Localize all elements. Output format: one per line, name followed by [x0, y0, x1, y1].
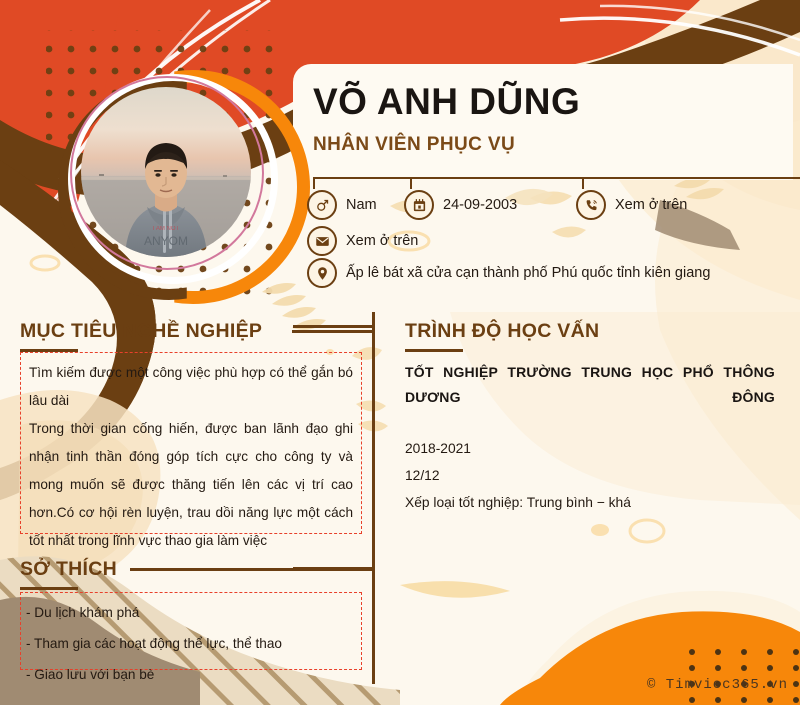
svg-text:ANYOM: ANYOM	[144, 234, 188, 248]
education-underline	[405, 349, 463, 352]
contact-gender[interactable]: Nam	[307, 190, 377, 220]
objective-paragraph-1: Tìm kiếm được một công việc phù hợp có t…	[29, 359, 353, 415]
contact-phone[interactable]: Xem ở trên	[576, 190, 687, 220]
education-title: TRÌNH ĐỘ HỌC VẤN	[405, 320, 599, 343]
education-grade-level: 12/12	[405, 462, 775, 489]
list-item: - Tham gia các hoạt động thể lực, thể th…	[26, 628, 353, 659]
profile-photo: I AM NOT ANYOM	[81, 87, 251, 257]
hobbies-underline	[20, 587, 78, 590]
hobbies-title: SỞ THÍCH	[20, 558, 117, 581]
education-classification: Xếp loại tốt nghiệp: Trung bình − khá	[405, 489, 775, 516]
contact-address[interactable]: Ấp lê bát xã cửa cạn thành phố Phú quốc …	[307, 258, 710, 288]
list-item: - Du lịch khám phá	[26, 597, 353, 628]
gender-icon	[307, 190, 337, 220]
hobbies-box: - Du lịch khám phá - Tham gia các hoạt đ…	[20, 592, 362, 670]
objective-paragraph-2: Trong thời gian cống hiến, được ban lãnh…	[29, 415, 353, 555]
objective-title: MỤC TIÊU NGHỀ NGHIỆP	[20, 320, 262, 343]
education-body: TỐT NGHIỆP TRƯỜNG TRUNG HỌC PHỔ THÔNG DƯ…	[405, 360, 775, 516]
contact-rail	[313, 177, 800, 179]
column-divider	[372, 312, 375, 684]
rail-tick-gender	[313, 177, 315, 189]
hobbies-header: SỞ THÍCH	[20, 558, 117, 590]
education-header: TRÌNH ĐỘ HỌC VẤN	[405, 320, 599, 352]
rail-tick-phone	[582, 177, 584, 189]
page-title: VÕ ANH DŨNG	[313, 80, 580, 124]
education-school: TỐT NGHIỆP TRƯỜNG TRUNG HỌC PHỔ THÔNG DƯ…	[405, 360, 775, 435]
contact-email-value: Xem ở trên	[346, 233, 418, 249]
watermark: © Timviec365.vn	[647, 677, 788, 693]
objective-header: MỤC TIÊU NGHỀ NGHIỆP	[20, 320, 262, 352]
contact-phone-value: Xem ở trên	[615, 197, 687, 213]
contact-gender-value: Nam	[346, 197, 377, 213]
name-block: VÕ ANH DŨNG NHÂN VIÊN PHỤC VỤ	[313, 80, 580, 158]
contact-email[interactable]: Xem ở trên	[307, 226, 418, 256]
location-icon	[307, 258, 337, 288]
education-years: 2018-2021	[405, 435, 775, 462]
phone-icon	[576, 190, 606, 220]
calendar-icon	[404, 190, 434, 220]
contact-birthdate-value: 24-09-2003	[443, 197, 517, 213]
email-icon	[307, 226, 337, 256]
svg-text:I AM NOT: I AM NOT	[153, 226, 180, 232]
contact-address-value: Ấp lê bát xã cửa cạn thành phố Phú quốc …	[346, 265, 710, 281]
list-item: - Giao lưu với bạn bè	[26, 659, 353, 690]
contact-birthdate[interactable]: 24-09-2003	[404, 190, 517, 220]
hobbies-rule	[130, 568, 372, 571]
avatar: I AM NOT ANYOM	[58, 62, 284, 288]
job-title: NHÂN VIÊN PHỤC VỤ	[313, 132, 580, 158]
cv-page: I AM NOT ANYOM VÕ ANH DŨNG NHÂN VIÊN PHỤ…	[0, 0, 800, 705]
divider-stub-top	[293, 325, 375, 328]
objective-box: Tìm kiếm được một công việc phù hợp có t…	[20, 352, 362, 534]
objective-rule	[292, 330, 372, 333]
rail-tick-birthdate	[410, 177, 412, 189]
